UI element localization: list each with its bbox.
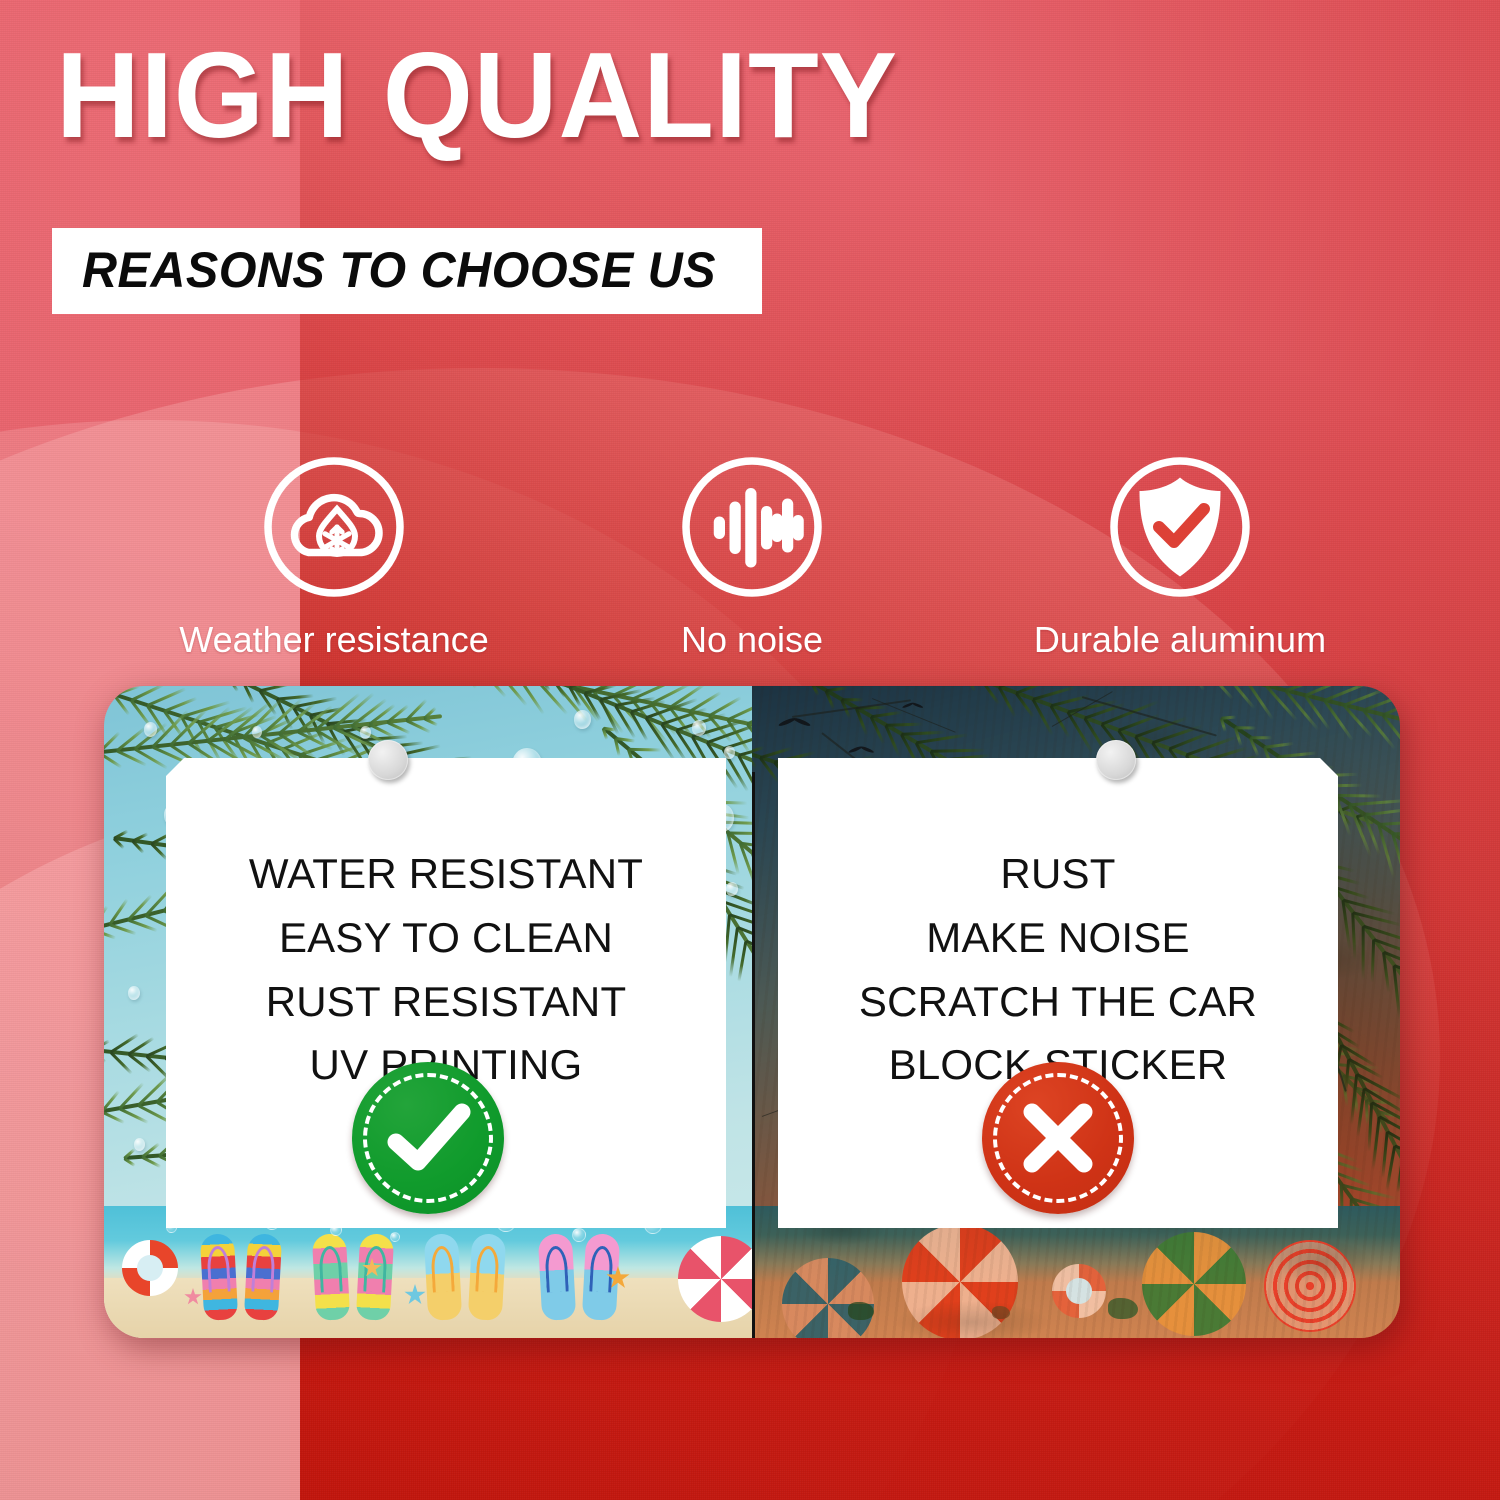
flip-flop (356, 1233, 394, 1321)
flip-flop-strap (430, 1245, 454, 1292)
crack-line (792, 699, 911, 718)
flip-flop (424, 1233, 462, 1321)
water-droplet (128, 986, 140, 1000)
bad-text-list: RUST MAKE NOISE SCRATCH THE CAR BLOCK ST… (778, 842, 1338, 1097)
cloud-droplet-snowflake-icon (134, 452, 534, 607)
checkmark-glyph (352, 1062, 504, 1214)
good-line: WATER RESISTANT (166, 842, 726, 906)
bubble (572, 1228, 586, 1242)
good-line: RUST RESISTANT (166, 970, 726, 1034)
feature-durable-aluminum: Durable aluminum (950, 452, 1410, 661)
mounting-hole (368, 740, 408, 780)
feature-label: No noise (592, 619, 912, 661)
sound-wave-icon (592, 452, 912, 607)
feature-label: Weather resistance (134, 619, 534, 661)
flip-flop-strap (318, 1245, 342, 1292)
subtitle-text: REASONS TO CHOOSE US (82, 241, 716, 299)
water-droplet (724, 746, 735, 759)
flip-flop (538, 1233, 576, 1321)
flip-flop (244, 1233, 282, 1321)
water-droplet (574, 710, 591, 729)
flip-flop (200, 1233, 238, 1321)
license-plate-comparison: WATER RESISTANT EASY TO CLEAN RUST RESIS… (104, 686, 1400, 1338)
water-droplet (252, 726, 262, 738)
life-ring (122, 1240, 178, 1296)
water-droplet (692, 720, 706, 736)
water-droplet (360, 726, 371, 739)
water-droplet (134, 1138, 145, 1151)
flip-flop (312, 1233, 350, 1321)
cross-badge-icon (982, 1062, 1134, 1214)
flip-flop (468, 1233, 506, 1321)
mounting-hole (1096, 740, 1136, 780)
subtitle-banner: REASONS TO CHOOSE US (52, 228, 762, 314)
check-badge-icon (352, 1062, 504, 1214)
page-title: HIGH QUALITY (56, 34, 898, 156)
water-droplet (144, 722, 157, 737)
good-text-list: WATER RESISTANT EASY TO CLEAN RUST RESIS… (166, 842, 726, 1097)
bubble (390, 1232, 400, 1242)
flip-flop-strap (544, 1245, 568, 1292)
cross-glyph (982, 1062, 1134, 1214)
bad-line: SCRATCH THE CAR (778, 970, 1338, 1034)
crack-line (872, 698, 956, 733)
feature-label: Durable aluminum (950, 619, 1410, 661)
plate-frame-good: WATER RESISTANT EASY TO CLEAN RUST RESIS… (104, 686, 752, 1338)
flip-flop-strap (251, 1245, 275, 1292)
bad-line: RUST (778, 842, 1338, 906)
good-line: EASY TO CLEAN (166, 906, 726, 970)
water-droplet (726, 882, 738, 896)
flip-flop-strap (589, 1245, 613, 1292)
shield-check-icon (950, 452, 1410, 607)
flip-flop-strap (206, 1245, 230, 1292)
plate-frame-bad: RUST MAKE NOISE SCRATCH THE CAR BLOCK ST… (752, 686, 1400, 1338)
feature-weather-resistance: Weather resistance (134, 452, 534, 661)
crack-line (1082, 696, 1217, 737)
flip-flop-strap (475, 1245, 499, 1292)
bad-line: MAKE NOISE (778, 906, 1338, 970)
comparison-divider (752, 772, 755, 1338)
feature-no-noise: No noise (592, 452, 912, 661)
